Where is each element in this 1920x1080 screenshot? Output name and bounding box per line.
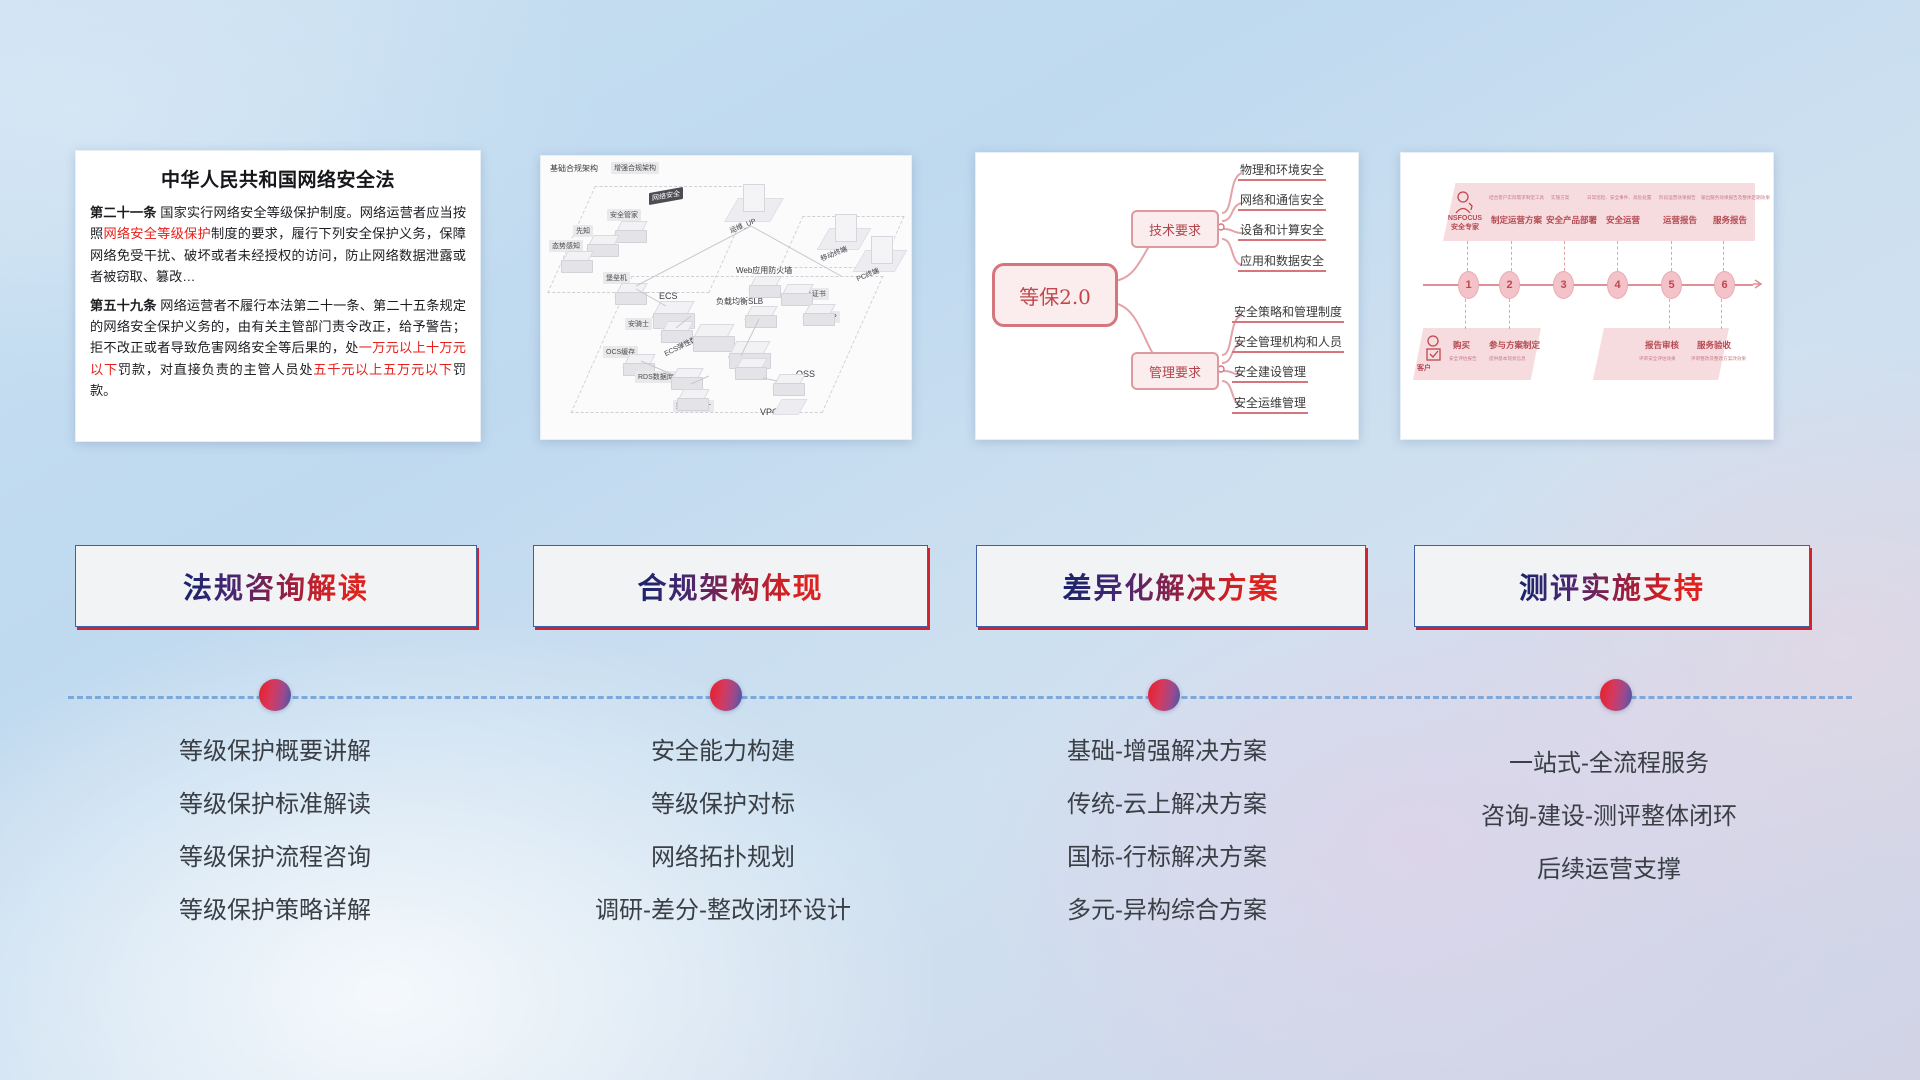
law-paragraph-21: 第二十一条 国家实行网络安全等级保护制度。网络运营者应当按照网络安全等级保护制度… — [90, 202, 466, 288]
process-cust-label-1: 购买 — [1453, 339, 1470, 351]
process-sub-2: 结合客户实际需求制定工具 — [1489, 195, 1544, 201]
process-label-5: 运营报告 — [1663, 214, 1697, 226]
architecture-canvas: 基础合规架构 增强合规架构 网络安全 安全管家 先知 态势感知 堡垒机 ECS … — [541, 156, 911, 439]
mindmap-leaf: 安全策略和管理制度 — [1232, 303, 1344, 323]
mindmap-leaf: 网络和通信安全 — [1238, 191, 1326, 211]
arch-connectors — [541, 156, 911, 439]
mindmap-leaf: 安全管理机构和人员 — [1232, 333, 1344, 353]
list-item: 咨询-建设-测评整体闭环 — [1394, 805, 1824, 829]
process-cust-sub-3: 评审安全评估效果 — [1639, 356, 1676, 362]
mindmap-leaf: 安全运维管理 — [1232, 394, 1308, 414]
list-item: 传统-云上解决方案 — [952, 793, 1382, 817]
process-step-5: 5 — [1661, 271, 1682, 299]
pillar-heading-2: 合规架构体现 — [637, 565, 823, 607]
process-connector — [1671, 241, 1673, 271]
process-connector — [1564, 241, 1566, 271]
timeline-dot-2[interactable] — [710, 679, 742, 711]
mindmap-leaf: 设备和计算安全 — [1238, 221, 1326, 241]
process-label-2: 制定运营方案 — [1491, 214, 1542, 226]
architecture-diagram-card[interactable]: 基础合规架构 增强合规架构 网络安全 安全管家 先知 态势感知 堡垒机 ECS … — [540, 155, 912, 440]
process-connector — [1465, 299, 1467, 329]
law-article-label-59: 第五十九条 — [90, 298, 157, 313]
law-title: 中华人民共和国网络安全法 — [76, 165, 480, 192]
timeline-dot-3[interactable] — [1148, 679, 1180, 711]
process-cust-sub-1: 安全评估报告 — [1449, 356, 1477, 362]
process-sub-6: 输出服务效果报告及整体定期效果 — [1701, 195, 1770, 201]
mindmap-leaf: 物理和环境安全 — [1238, 161, 1326, 181]
list-item: 等级保护策略详解 — [60, 899, 490, 923]
pillar-heading-1: 法规咨询解读 — [183, 565, 369, 607]
law-article-label-21: 第二十一条 — [90, 205, 157, 220]
law-run-highlight: 五千元以上五万元以下 — [313, 362, 453, 377]
process-timeline-card[interactable]: NSFOCUS安全专家 客户 1 2 3 4 5 6 结合客户实际需求制定工具 … — [1400, 152, 1774, 440]
screenshot-card-row: 中华人民共和国网络安全法 第二十一条 国家实行网络安全等级保护制度。网络运营者应… — [0, 0, 1920, 470]
pillar-items-2: 安全能力构建 等级保护对标 网络拓扑规划 调研-差分-整改闭环设计 — [508, 740, 938, 952]
mindmap-canvas: 等保2.0 技术要求 管理要求 物理和环境安全 网络和通信安全 设备和计算安全 … — [976, 153, 1358, 439]
process-canvas: NSFOCUS安全专家 客户 1 2 3 4 5 6 结合客户实际需求制定工具 … — [1401, 153, 1773, 439]
process-cust-label-3: 报告审核 — [1645, 339, 1679, 351]
mindmap-branch-tech: 技术要求 — [1131, 210, 1219, 248]
process-sub-3: 实施方案 — [1551, 195, 1569, 201]
pillar-heading-4: 测评实施支持 — [1519, 565, 1705, 607]
process-connector — [1721, 299, 1723, 329]
timeline-dot-1[interactable] — [259, 679, 291, 711]
list-item: 等级保护概要讲解 — [60, 740, 490, 764]
process-connector — [1669, 299, 1671, 329]
process-connector — [1511, 241, 1513, 271]
list-item: 等级保护对标 — [508, 793, 938, 817]
list-item: 调研-差分-整改闭环设计 — [508, 899, 938, 923]
process-label-3: 安全产品部署 — [1546, 214, 1597, 226]
page-background: 中华人民共和国网络安全法 第二十一条 国家实行网络安全等级保护制度。网络运营者应… — [0, 0, 1920, 1080]
process-step-3: 3 — [1553, 271, 1574, 299]
list-item: 基础-增强解决方案 — [952, 740, 1382, 764]
law-paragraph-59: 第五十九条 网络运营者不履行本法第二十一条、第二十五条规定的网络安全保护义务的，… — [90, 295, 466, 402]
list-item: 后续运营支撑 — [1394, 858, 1824, 882]
timeline-dot-4[interactable] — [1600, 679, 1632, 711]
law-run-highlight: 网络安全等级保护 — [103, 226, 211, 241]
law-body: 第二十一条 国家实行网络安全等级保护制度。网络运营者应当按照网络安全等级保护制度… — [76, 202, 480, 416]
law-document-card[interactable]: 中华人民共和国网络安全法 第二十一条 国家实行网络安全等级保护制度。网络运营者应… — [75, 150, 481, 442]
timeline-dashed-line — [68, 696, 1852, 699]
process-cust-label-4: 服务验收 — [1697, 339, 1731, 351]
pillar-items-4: 一站式-全流程服务 咨询-建设-测评整体闭环 后续运营支撑 — [1394, 752, 1824, 911]
process-connector — [1723, 241, 1725, 271]
mindmap-leaf: 应用和数据安全 — [1238, 252, 1326, 272]
pillar-items-1: 等级保护概要讲解 等级保护标准解读 等级保护流程咨询 等级保护策略详解 — [60, 740, 490, 952]
mindmap-card[interactable]: 等保2.0 技术要求 管理要求 物理和环境安全 网络和通信安全 设备和计算安全 … — [975, 152, 1359, 440]
pillar-items-3: 基础-增强解决方案 传统-云上解决方案 国标-行标解决方案 多元-异构综合方案 — [952, 740, 1382, 952]
mindmap-root: 等保2.0 — [992, 263, 1118, 327]
list-item: 国标-行标解决方案 — [952, 846, 1382, 870]
process-step-4: 4 — [1607, 271, 1628, 299]
list-item: 网络拓扑规划 — [508, 846, 938, 870]
process-label-4: 安全运营 — [1606, 214, 1640, 226]
process-step-1: 1 — [1458, 271, 1479, 299]
process-cust-sub-4: 评审整改及整改方案改效果 — [1691, 356, 1746, 362]
process-connector — [1617, 241, 1619, 271]
law-run: 罚款，对直接负责的主管人员处 — [118, 362, 313, 377]
pillar-heading-3: 差异化解决方案 — [1062, 565, 1279, 607]
list-item: 安全能力构建 — [508, 740, 938, 764]
list-item: 等级保护流程咨询 — [60, 846, 490, 870]
process-connector — [1467, 241, 1469, 271]
list-item: 等级保护标准解读 — [60, 793, 490, 817]
process-cust-sub-2: 提供基本现状信息 — [1489, 356, 1526, 362]
pillar-heading-box-1[interactable]: 法规咨询解读 — [75, 545, 477, 627]
process-connector — [1509, 299, 1511, 329]
process-sub-5: 阶段运营效果报告 — [1659, 195, 1696, 201]
list-item: 一站式-全流程服务 — [1394, 752, 1824, 776]
mindmap-branch-mgmt: 管理要求 — [1131, 352, 1219, 390]
process-step-2: 2 — [1499, 271, 1520, 299]
pillar-heading-box-2[interactable]: 合规架构体现 — [533, 545, 928, 627]
list-item: 多元-异构综合方案 — [952, 899, 1382, 923]
process-sub-4: 日常巡检、安全事件、高危处置 — [1587, 195, 1651, 201]
pillar-heading-box-4[interactable]: 测评实施支持 — [1414, 545, 1810, 627]
process-customer-label: 客户 — [1417, 363, 1431, 373]
process-expert-label: NSFOCUS安全专家 — [1443, 215, 1487, 232]
process-step-6: 6 — [1714, 271, 1735, 299]
pillar-heading-box-3[interactable]: 差异化解决方案 — [976, 545, 1366, 627]
process-cust-label-2: 参与方案制定 — [1489, 339, 1540, 351]
process-label-6: 服务报告 — [1713, 214, 1747, 226]
mindmap-leaf: 安全建设管理 — [1232, 363, 1308, 383]
